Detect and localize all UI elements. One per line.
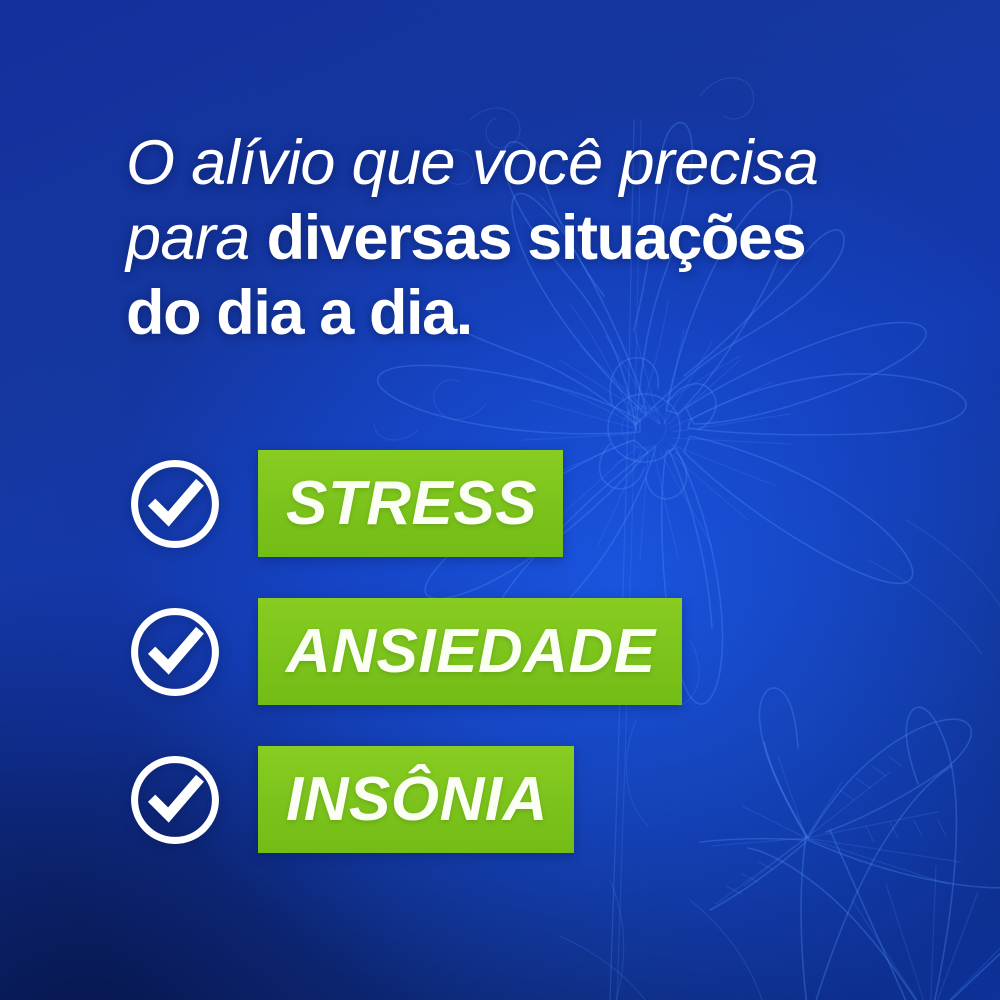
benefit-chip-ansiedade: ANSIEDADE bbox=[258, 598, 682, 705]
list-item: INSÔNIA bbox=[128, 746, 888, 853]
headline-line-2-bold: diversas situações bbox=[267, 203, 806, 273]
benefit-chip-insonia: INSÔNIA bbox=[258, 746, 574, 853]
check-circle-icon bbox=[128, 753, 222, 847]
benefit-label: INSÔNIA bbox=[286, 769, 548, 831]
check-circle-icon bbox=[128, 457, 222, 551]
list-item: ANSIEDADE bbox=[128, 598, 888, 705]
promo-card: O alívio que você precisa para diversas … bbox=[0, 0, 1000, 1000]
page-title: O alívio que você precisa para diversas … bbox=[126, 126, 916, 351]
benefit-list: STRESS ANSIEDADE INSÔNIA bbox=[128, 450, 888, 853]
benefit-label: STRESS bbox=[286, 473, 537, 535]
benefit-chip-stress: STRESS bbox=[258, 450, 563, 557]
benefit-label: ANSIEDADE bbox=[286, 621, 656, 683]
list-item: STRESS bbox=[128, 450, 888, 557]
headline-line-1: O alívio que você precisa bbox=[126, 126, 916, 201]
headline-line-2: para diversas situações bbox=[126, 201, 916, 276]
headline-line-3: do dia a dia. bbox=[126, 276, 916, 351]
check-circle-icon bbox=[128, 605, 222, 699]
headline-line-2-italic: para bbox=[126, 203, 267, 273]
